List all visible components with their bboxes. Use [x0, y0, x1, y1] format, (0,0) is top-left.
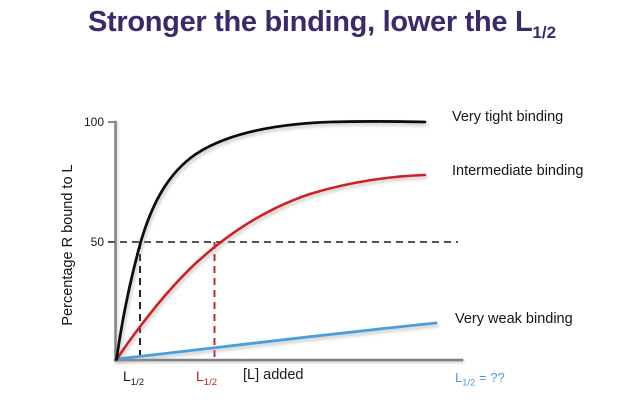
binding-curve-chart: 100 50 Percentage R bound to L Very tigh… [0, 0, 644, 414]
series-label-intermediate-binding: Intermediate binding [452, 163, 583, 179]
y-tick-label-100: 100 [72, 115, 104, 129]
y-tick-label-50: 50 [72, 235, 104, 249]
x-axis-title: [L] added [243, 367, 303, 383]
series-label-very-tight-binding: Very tight binding [452, 109, 563, 125]
annotation-l-half-weak: L1/2 = ?? [455, 370, 505, 389]
y-axis-title: Percentage R bound to L [60, 140, 76, 350]
annotation-l-half-tight: L1/2 [123, 368, 144, 388]
curve-very-weak-binding [116, 323, 436, 359]
annotation-l-half-intermediate-base: L [196, 368, 204, 384]
curve-very-tight-binding [117, 121, 426, 359]
curve-intermediate-binding [117, 175, 426, 360]
series-label-very-weak-binding: Very weak binding [455, 311, 573, 327]
annotation-l-half-weak-subscript: 1/2 [462, 378, 475, 389]
annotation-l-half-tight-base: L [123, 368, 131, 384]
annotation-l-half-intermediate: L1/2 [196, 368, 217, 388]
chart-canvas [0, 0, 644, 414]
annotation-l-half-tight-subscript: 1/2 [131, 377, 144, 388]
annotation-l-half-weak-tail: = ?? [475, 370, 504, 385]
annotation-l-half-intermediate-subscript: 1/2 [204, 377, 217, 388]
